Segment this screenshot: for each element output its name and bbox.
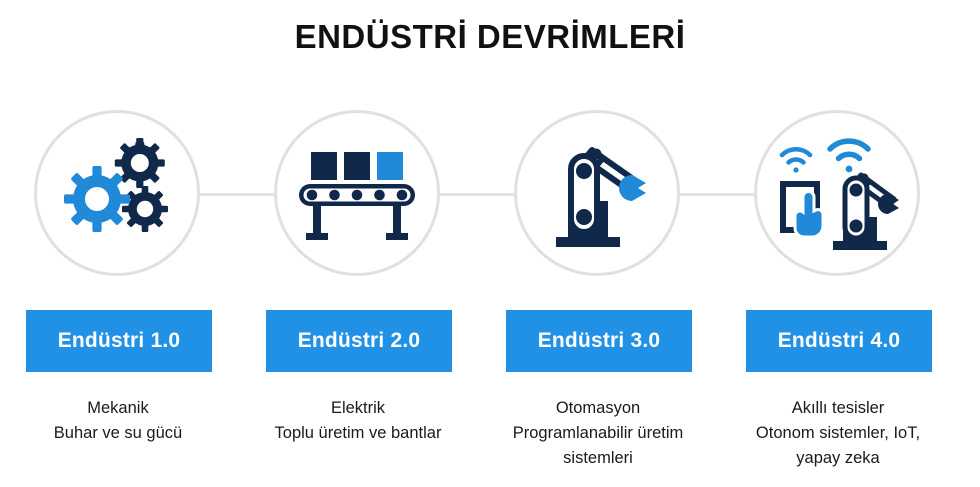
badge-industry-3[interactable]: Endüstri 3.0: [506, 310, 692, 372]
conveyor-belt-icon: [295, 138, 419, 248]
step-industry-4[interactable]: Endüstri 4.0 Akıllı tesisler Otonom sist…: [718, 0, 958, 487]
gears-icon: [57, 133, 177, 253]
description-line: Toplu üretim ve bantlar: [240, 421, 476, 446]
icon-circle-industry-4: [754, 110, 920, 276]
badge-industry-1[interactable]: Endüstri 1.0: [26, 310, 212, 372]
description-line: Buhar ve su gücü: [0, 421, 236, 446]
description-industry-3: Otomasyon Programlanabilir üretim sistem…: [480, 396, 716, 471]
wifi-signal-icon: [782, 149, 810, 172]
wifi-signal-icon: [830, 141, 868, 172]
description-industry-2: Elektrik Toplu üretim ve bantlar: [240, 396, 476, 446]
badge-industry-4[interactable]: Endüstri 4.0: [746, 310, 932, 372]
description-industry-4: Akıllı tesisler Otonom sistemler, IoT, y…: [720, 396, 956, 471]
description-line: Mekanik: [0, 396, 236, 421]
description-line: Otomasyon: [480, 396, 716, 421]
icon-circle-industry-2: [274, 110, 440, 276]
badge-industry-2[interactable]: Endüstri 2.0: [266, 310, 452, 372]
description-line: sistemleri: [480, 446, 716, 471]
step-industry-3[interactable]: Endüstri 3.0 Otomasyon Programlanabilir …: [478, 0, 718, 487]
industry-revolutions-timeline: Endüstri 1.0 Mekanik Buhar ve su gücü: [0, 0, 980, 487]
smart-factory-iot-icon: [770, 131, 904, 255]
step-industry-2[interactable]: Endüstri 2.0 Elektrik Toplu üretim ve ba…: [238, 0, 478, 487]
description-line: Programlanabilir üretim: [480, 421, 716, 446]
robot-arm-icon: [536, 133, 658, 253]
icon-circle-industry-1: [34, 110, 200, 276]
icon-circle-industry-3: [514, 110, 680, 276]
description-line: Elektrik: [240, 396, 476, 421]
description-line: yapay zeka: [720, 446, 956, 471]
description-industry-1: Mekanik Buhar ve su gücü: [0, 396, 236, 446]
step-industry-1[interactable]: Endüstri 1.0 Mekanik Buhar ve su gücü: [0, 0, 238, 487]
description-line: Otonom sistemler, IoT,: [720, 421, 956, 446]
description-line: Akıllı tesisler: [720, 396, 956, 421]
